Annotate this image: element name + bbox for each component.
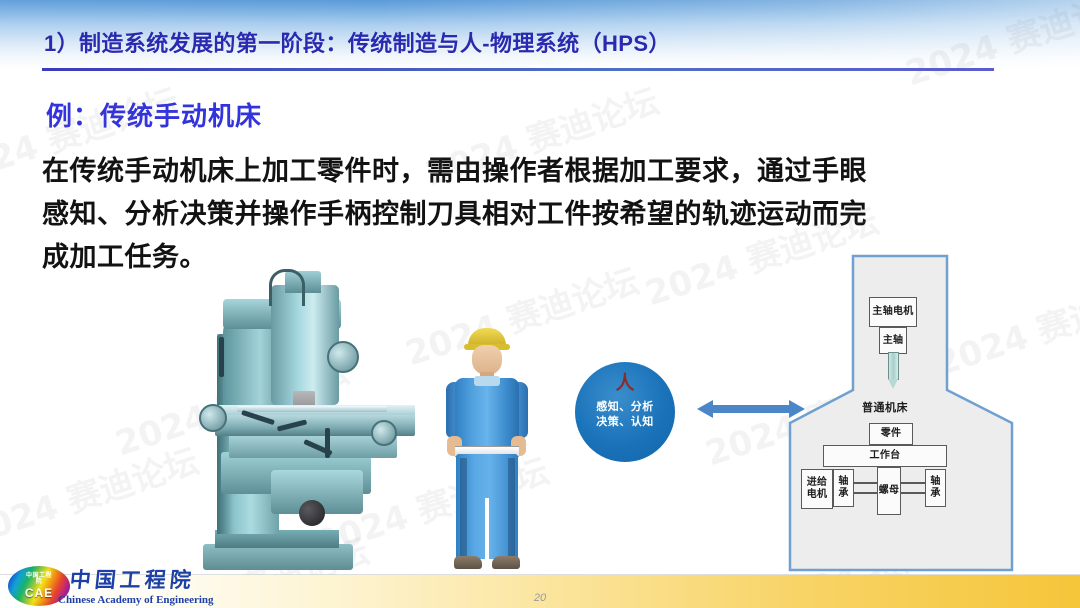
box-worktable: 工作台 <box>823 445 947 467</box>
leadscrew-line <box>853 492 878 494</box>
machine-tool-schematic: 主轴电机 主轴 普通机床 零件 工作台 进给电机 轴承 螺母 轴承 <box>785 253 1015 573</box>
machine-handwheel-upper <box>327 341 359 373</box>
body-line-2: 感知、分析决策并操作手柄控制刀具相对工件按希望的轨迹运动而完 <box>42 193 1052 236</box>
worker-trouser-shadow-left <box>460 458 467 556</box>
title-underline-rule <box>42 68 994 71</box>
worker-trouser-shadow-right <box>508 458 515 556</box>
leadscrew-line <box>853 482 878 484</box>
worker-face <box>472 345 502 375</box>
machine-lever <box>219 337 224 377</box>
leadscrew-line <box>900 492 926 494</box>
worker-leg-gap <box>485 498 489 559</box>
page-title: 1）制造系统发展的第一阶段：传统制造与人-物理系统（HPS） <box>44 26 671 58</box>
cae-logo-cn: 中国工程院 <box>24 573 55 585</box>
machine-handwheel-right <box>371 420 397 446</box>
cae-logo-text: 中国工程院 CAE <box>24 573 55 599</box>
human-node-circle: 人 感知、分析 决策、认知 <box>575 362 675 462</box>
watermark-text: 2024 赛迪论坛 <box>0 434 204 556</box>
human-caption-line-1: 感知、分析 <box>596 400 654 415</box>
manual-machine-tool-photo <box>175 265 420 570</box>
diagram-title-label: 普通机床 <box>862 399 908 415</box>
worker-shoe-right <box>492 556 520 569</box>
slide-canvas: 1）制造系统发展的第一阶段：传统制造与人-物理系统（HPS） 2024 赛迪论坛… <box>0 0 1080 608</box>
body-line-1: 在传统手动机床上加工零件时，需由操作者根据加工要求，通过手眼 <box>42 150 1052 193</box>
worker-shoe-left <box>454 556 482 569</box>
machine-lever <box>325 428 330 458</box>
machine-handwheel-knob <box>299 500 325 526</box>
machine-cable <box>269 269 305 306</box>
example-subtitle: 例：传统手动机床 <box>46 96 262 133</box>
box-spindle-motor: 主轴电机 <box>869 297 917 327</box>
machine-handwheel-left <box>199 404 227 432</box>
box-feed-motor: 进给电机 <box>801 469 833 509</box>
organization-name-en: Chinese Academy of Engineering <box>58 594 214 606</box>
leadscrew-line <box>900 482 926 484</box>
box-bearing-right: 轴承 <box>925 469 946 507</box>
worker-collar <box>474 376 500 386</box>
cutting-tool-tip-icon <box>888 379 898 389</box>
box-part: 零件 <box>869 423 913 445</box>
machine-ways <box>237 406 387 412</box>
box-nut: 螺母 <box>877 467 901 515</box>
organization-name-cn: 中国工程院 <box>68 564 196 594</box>
box-spindle: 主轴 <box>879 327 907 354</box>
cutting-tool-icon <box>888 352 899 380</box>
box-bearing-left: 轴承 <box>833 469 854 507</box>
cae-logo-abbr: CAE <box>24 587 55 599</box>
human-node-caption: 感知、分析 决策、认知 <box>596 400 654 430</box>
worker-illustration <box>438 328 534 573</box>
worker-shirt <box>455 378 519 452</box>
human-caption-line-2: 决策、认知 <box>596 415 654 430</box>
human-character-glyph: 人 <box>615 374 634 394</box>
